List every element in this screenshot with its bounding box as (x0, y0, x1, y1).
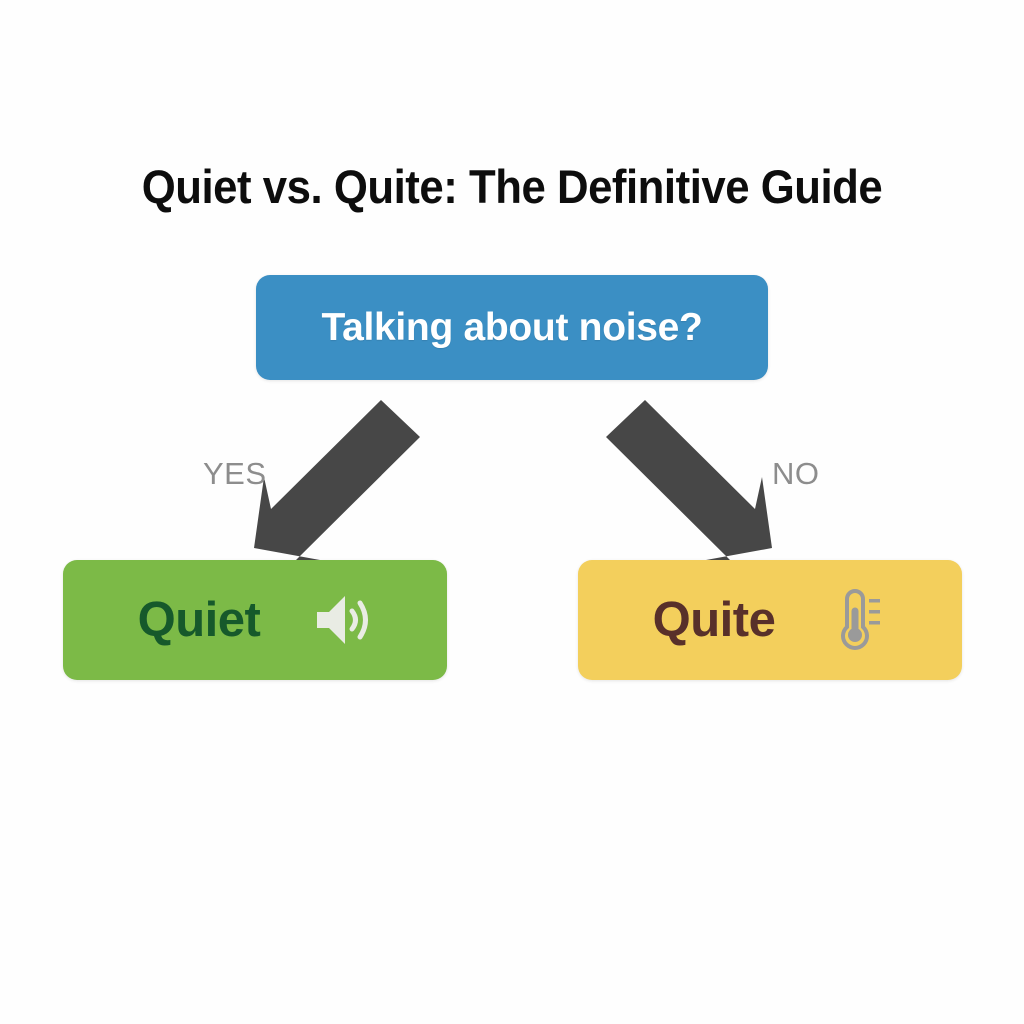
arrow-layer (0, 0, 1024, 1024)
node-quite-label: Quite (653, 592, 776, 648)
node-question[interactable]: Talking about noise? (256, 275, 768, 380)
arrow-yes (254, 400, 420, 562)
diagram-canvas: Quiet vs. Quite: The Definitive Guide YE… (0, 0, 1024, 1024)
node-quiet[interactable]: Quiet (63, 560, 447, 680)
speaker-volume-icon (312, 588, 372, 652)
thermometer-icon (827, 588, 887, 652)
page-title: Quiet vs. Quite: The Definitive Guide (36, 163, 988, 210)
edge-label-yes: YES (203, 456, 267, 492)
node-question-label: Talking about noise? (321, 306, 702, 350)
edge-label-no: NO (772, 456, 820, 492)
arrow-no (606, 400, 772, 562)
node-quite[interactable]: Quite (578, 560, 962, 680)
node-quiet-label: Quiet (138, 592, 261, 648)
